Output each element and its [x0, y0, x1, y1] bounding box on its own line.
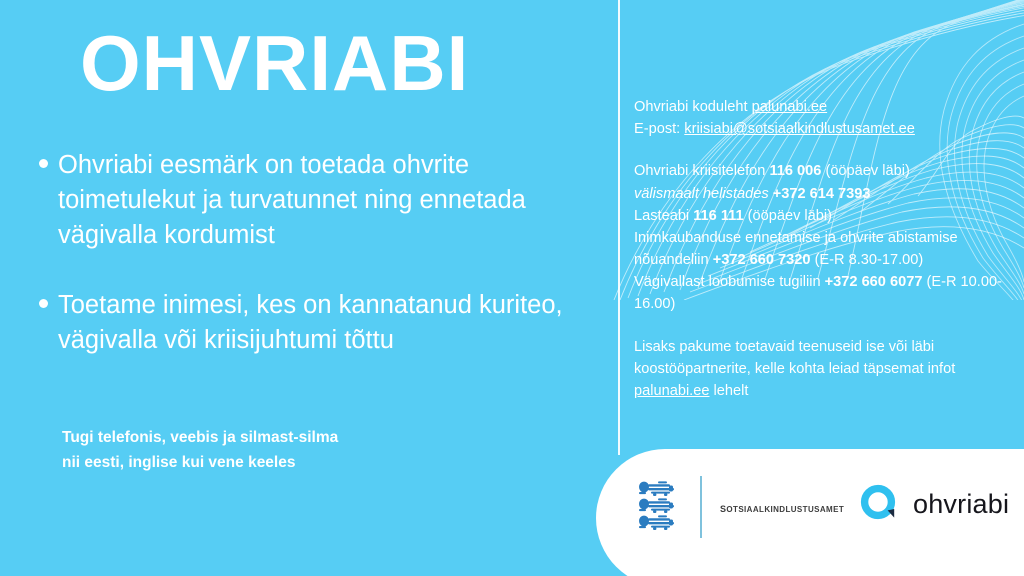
- government-logo: Sotsiaalkindlustusamet: [636, 476, 844, 538]
- page-title: OHVRIABI: [80, 24, 469, 102]
- email-link[interactable]: kriisiabi@sotsiaalkindlustusamet.ee: [684, 121, 915, 137]
- child-hours: (ööpäev läbi): [744, 208, 832, 224]
- abroad-number: +372 614 7393: [773, 186, 871, 202]
- child-label: Lasteabi: [634, 208, 693, 224]
- trafficking-number: +372 660 7320: [713, 252, 811, 268]
- ohvriabi-wordmark: ohvriabi: [913, 489, 1009, 520]
- extra-text-after: lehelt: [709, 383, 748, 399]
- extra-website-link[interactable]: palunabi.ee: [634, 383, 709, 399]
- website-link[interactable]: palunabi.ee: [752, 99, 827, 115]
- website-line: Ohvriabi koduleht palunabi.ee: [634, 96, 1006, 118]
- helpline-violence: Vägivallast loobumise tugiliin +372 660 …: [634, 271, 1006, 315]
- helpline-crisis: Ohvriabi kriisitelefon 116 006 (ööpäev l…: [634, 160, 1006, 182]
- child-number: 116 111: [693, 208, 743, 224]
- email-line: E-post: kriisiabi@sotsiaalkindlustusamet…: [634, 118, 1006, 140]
- agency-name-label: Sotsiaalkindlustusamet: [720, 500, 844, 515]
- left-column: OHVRIABI Ohvriabi eesmärk on toetada ohv…: [0, 0, 600, 576]
- contact-block-online: Ohvriabi koduleht palunabi.ee E-post: kr…: [634, 96, 1006, 140]
- tagline-block: Tugi telefonis, veebis ja silmast-silma …: [62, 425, 338, 475]
- website-label: Ohvriabi koduleht: [634, 99, 752, 115]
- poster-slide: OHVRIABI Ohvriabi eesmärk on toetada ohv…: [0, 0, 1024, 576]
- logo-panel: Sotsiaalkindlustusamet ohvriabi: [596, 449, 1024, 576]
- contact-block-extra: Lisaks pakume toetavaid teenuseid ise võ…: [634, 336, 1006, 403]
- abroad-label: välismaalt helistades: [634, 186, 773, 202]
- tagline-line-2: nii eesti, inglise kui vene keeles: [62, 450, 338, 475]
- email-label: E-post:: [634, 121, 684, 137]
- logo-separator: [700, 476, 702, 538]
- contact-block-helplines: Ohvriabi kriisitelefon 116 006 (ööpäev l…: [634, 160, 1006, 315]
- bullet-item-purpose: Ohvriabi eesmärk on toetada ohvrite toim…: [36, 148, 596, 254]
- crisis-label: Ohvriabi kriisitelefon: [634, 163, 769, 179]
- right-column: Ohvriabi koduleht palunabi.ee E-post: kr…: [634, 96, 1006, 402]
- tagline-line-1: Tugi telefonis, veebis ja silmast-silma: [62, 425, 338, 450]
- extra-text-before: Lisaks pakume toetavaid teenuseid ise võ…: [634, 339, 955, 377]
- bullet-list: Ohvriabi eesmärk on toetada ohvrite toim…: [36, 148, 596, 392]
- estonian-coat-of-arms-icon: [636, 479, 680, 535]
- helpline-trafficking: Inimkaubanduse ennetamise ja ohvrite abi…: [634, 227, 1006, 271]
- ohvriabi-brand-logo: ohvriabi: [859, 483, 1009, 525]
- helpline-abroad: välismaalt helistades +372 614 7393: [634, 183, 1006, 205]
- trafficking-hours: (E-R 8.30-17.00): [811, 252, 924, 268]
- crisis-number: 116 006: [769, 163, 821, 179]
- violence-number: +372 660 6077: [825, 274, 923, 290]
- violence-label: Vägivallast loobumise tugiliin: [634, 274, 825, 290]
- helpline-child: Lasteabi 116 111 (ööpäev läbi): [634, 205, 1006, 227]
- crisis-hours: (ööpäev läbi): [821, 163, 909, 179]
- column-divider: [618, 0, 620, 455]
- bullet-item-support: Toetame inimesi, kes on kannatanud kurit…: [36, 288, 596, 358]
- ohvriabi-ring-icon: [859, 483, 901, 525]
